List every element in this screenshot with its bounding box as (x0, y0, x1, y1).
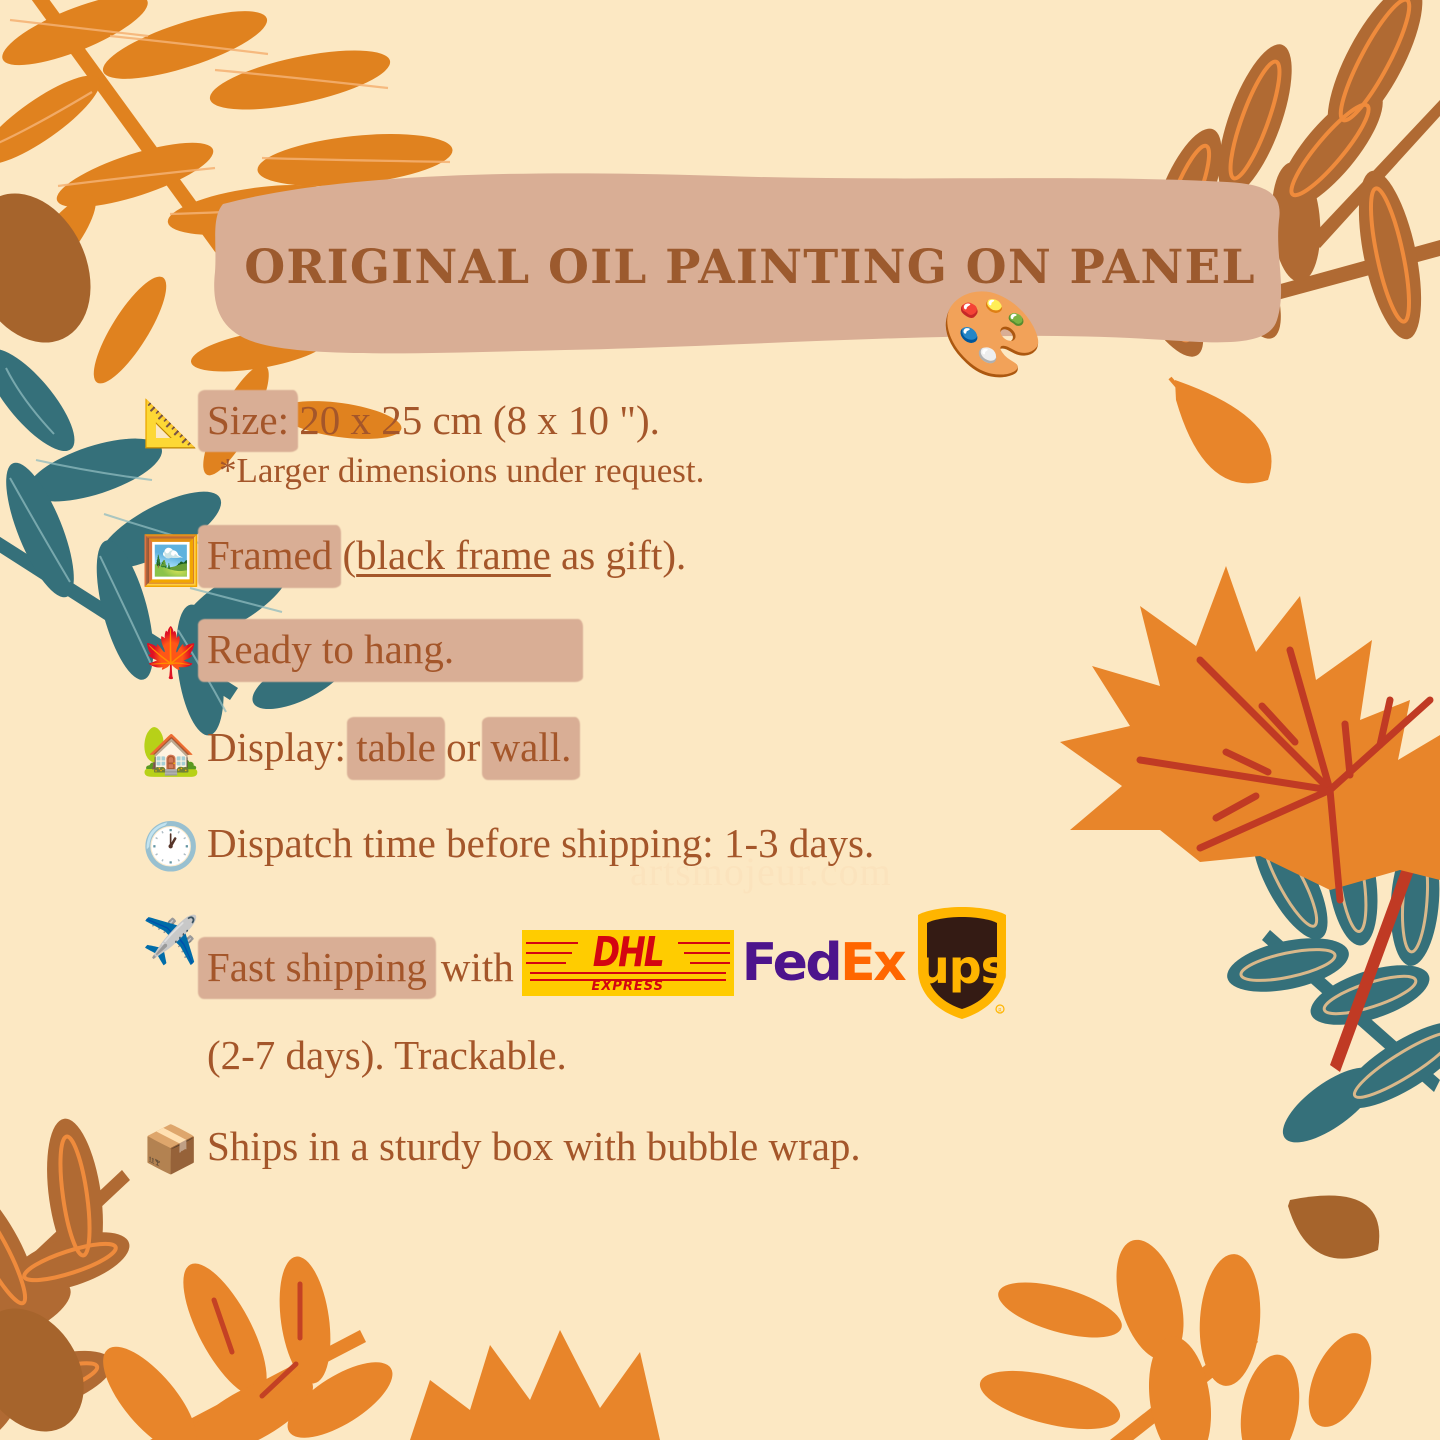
display-label: Display: (207, 724, 346, 770)
list-item-size-note: *Larger dimensions under request. (135, 450, 1315, 491)
shipping-line-2: (2-7 days). Trackable. (207, 1031, 1012, 1079)
framed-picture-icon: 🖼️ (135, 531, 207, 585)
leaf-branch-bottom-right (974, 1232, 1384, 1440)
house-icon: 🏡 (135, 723, 207, 775)
fedex-fed: Fed (742, 933, 840, 993)
feature-list: 📐 Size: 20 x 25 cm (8 x 10 "). *Larger d… (135, 388, 1315, 1172)
shipping-highlight: Fast shipping (207, 943, 427, 991)
svg-text:R: R (998, 1008, 1002, 1014)
title-block: ORIGINAL OIL PAINTING ON PANEL (205, 168, 1295, 358)
framed-highlight: Framed (207, 531, 332, 579)
airplane-icon: ✈️ (135, 909, 207, 963)
display-text: Display: table or wall. (207, 723, 571, 771)
list-item-size: 📐 Size: 20 x 25 cm (8 x 10 "). (135, 388, 1315, 446)
carrier-logos: DHL EXPRESS FedEx (522, 905, 1012, 1021)
list-item-ready-to-hang: 🍁 Ready to hang. (135, 625, 1315, 677)
framed-underlined: black frame (356, 532, 551, 578)
list-item-packaging: 📦 Ships in a sturdy box with bubble wrap… (135, 1122, 1315, 1172)
size-highlight: Size: (207, 396, 289, 444)
ready-text: Ready to hang. (207, 625, 574, 673)
ups-logo: ups R (912, 905, 1012, 1021)
shipping-line-1: Fast shipping with DHL (207, 909, 1012, 1025)
list-item-shipping: ✈️ Fast shipping with (135, 909, 1315, 1079)
display-conjunction: or (446, 724, 480, 770)
framed-text: Framed (black frame as gift). (207, 531, 686, 579)
shipping-with-label: with (441, 943, 514, 991)
dhl-wordmark: DHL (522, 930, 734, 975)
watermark: artsmojeur.com (630, 848, 892, 895)
list-item-framed: 🖼️ Framed (black frame as gift). (135, 531, 1315, 585)
ready-highlight: Ready to hang. (207, 625, 574, 673)
dhl-logo: DHL EXPRESS (522, 930, 734, 996)
page-title: ORIGINAL OIL PAINTING ON PANEL (205, 168, 1295, 358)
leaf-brown-small-bottom-right (1288, 1196, 1379, 1259)
size-text: Size: 20 x 25 cm (8 x 10 "). (207, 388, 660, 444)
leaf-branch-bottom-center (88, 1252, 404, 1440)
framed-paren-close: as gift). (551, 532, 687, 578)
dhl-tagline: EXPRESS (522, 980, 734, 994)
list-item-display: 🏡 Display: table or wall. (135, 723, 1315, 775)
straight-ruler-icon: 📐 (135, 388, 207, 446)
clock-icon: 🕐 (135, 819, 207, 869)
display-option-wall: wall. (491, 723, 572, 771)
packaging-text: Ships in a sturdy box with bubble wrap. (207, 1122, 861, 1170)
maple-leaf-icon: 🍁 (135, 625, 207, 677)
display-option-table: table (356, 723, 436, 771)
poster-canvas: ORIGINAL OIL PAINTING ON PANEL 🎨 📐 Size:… (0, 0, 1440, 1440)
shipping-block: Fast shipping with DHL (207, 909, 1012, 1079)
fedex-logo: FedEx (742, 935, 904, 991)
fedex-ex: Ex (840, 933, 904, 993)
maple-leaf-bottom-center (410, 1330, 660, 1440)
size-note: *Larger dimensions under request. (207, 450, 704, 491)
svg-text:ups: ups (917, 940, 1007, 994)
package-box-icon: 📦 (135, 1122, 207, 1172)
size-value: 20 x 25 cm (8 x 10 "). (289, 397, 660, 443)
